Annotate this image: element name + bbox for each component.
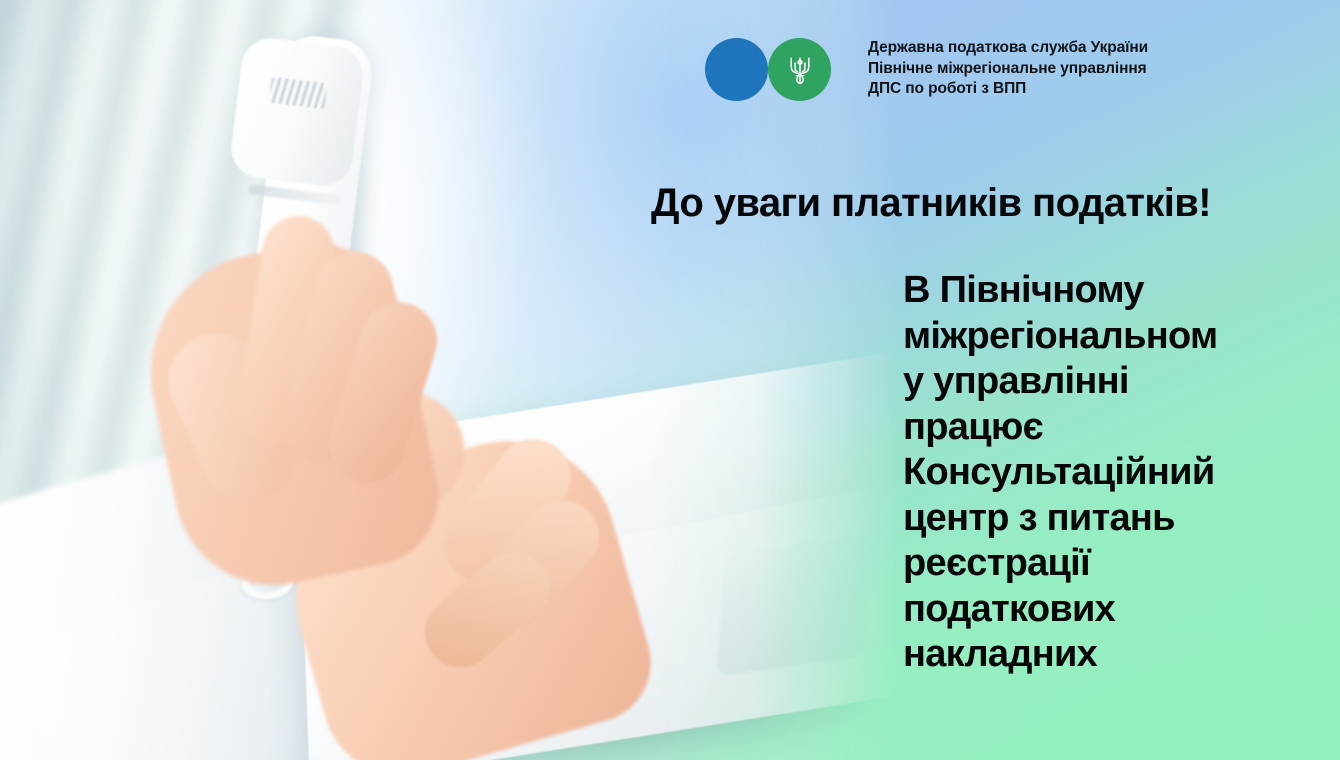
logo-blue-circle-icon — [705, 38, 768, 101]
body-line: В Північному — [903, 268, 1323, 314]
organization-line-1: Державна податкова служба України — [868, 38, 1268, 59]
organization-header: Державна податкова служба України Північ… — [868, 38, 1268, 100]
body-line: міжрегіональном — [903, 314, 1323, 360]
headline: До уваги платників податків! — [651, 181, 1211, 226]
logo-green-circle-icon — [768, 38, 831, 101]
body-line: Консультаційний — [903, 450, 1323, 496]
body-line: реєстрації — [903, 541, 1323, 587]
handset-earpiece — [228, 35, 366, 189]
announcement-banner: Державна податкова служба України Північ… — [0, 0, 1340, 760]
body-line: працює — [903, 405, 1323, 451]
body-line: центр з питань — [903, 496, 1323, 542]
telephone-stand-foot — [716, 533, 873, 676]
body-line: податкових — [903, 587, 1323, 633]
ukraine-trident-icon — [787, 54, 813, 86]
body-line: у управлінні — [903, 359, 1323, 405]
body-text: В Північному міжрегіональном у управлінн… — [903, 268, 1323, 678]
body-line: накладних — [903, 632, 1323, 678]
organization-line-3: ДПС по роботі з ВПП — [868, 79, 1268, 100]
organization-line-2: Північне міжрегіональне управління — [868, 59, 1268, 80]
telephone-photo — [0, 0, 900, 760]
